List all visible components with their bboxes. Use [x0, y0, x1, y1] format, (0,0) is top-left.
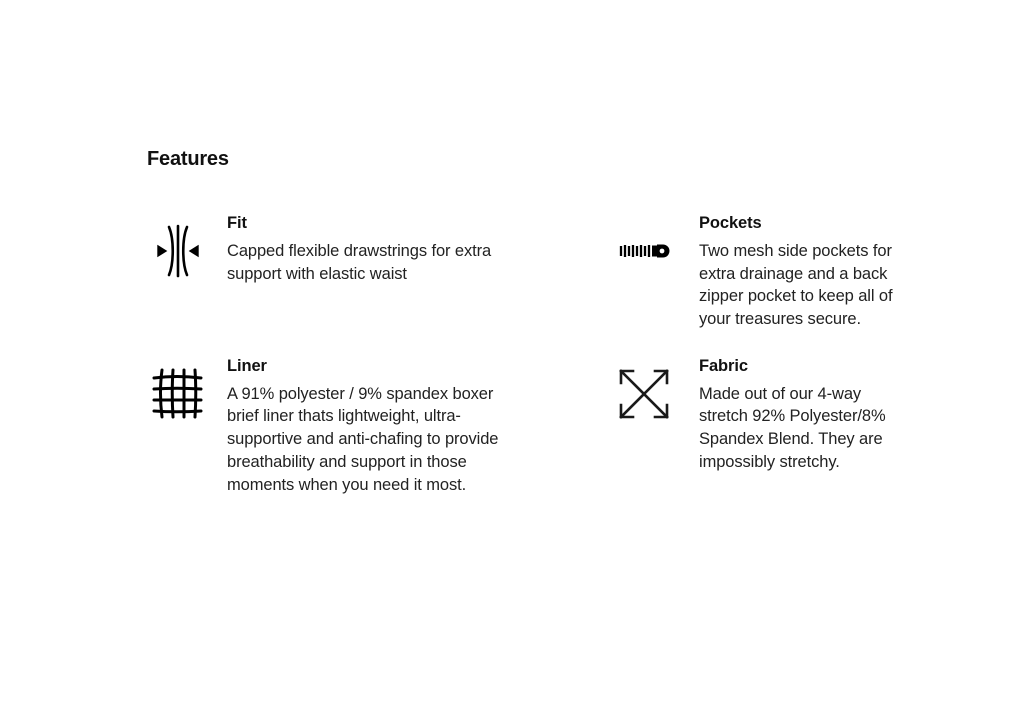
page-title: Features [147, 148, 907, 170]
feature-body-fabric: Fabric Made out of our 4-way stretch 92%… [699, 357, 907, 474]
feature-item-pockets: Pockets Two mesh side pockets for extra … [613, 214, 907, 331]
feature-title-fabric: Fabric [699, 357, 907, 377]
feature-text-pockets: Two mesh side pockets for extra drainage… [699, 240, 907, 331]
feature-body-pockets: Pockets Two mesh side pockets for extra … [699, 214, 907, 331]
features-grid: Fit Capped flexible drawstrings for extr… [147, 214, 907, 496]
feature-title-fit: Fit [227, 214, 503, 234]
feature-item-fabric: Fabric Made out of our 4-way stretch 92%… [613, 357, 907, 497]
feature-item-fit: Fit Capped flexible drawstrings for extr… [147, 214, 613, 331]
feature-body-liner: Liner A 91% polyester / 9% spandex boxer… [227, 357, 503, 497]
drawstring-icon [147, 220, 209, 282]
mesh-grid-icon [147, 363, 209, 425]
feature-body-fit: Fit Capped flexible drawstrings for extr… [227, 214, 503, 285]
feature-text-fit: Capped flexible drawstrings for extra su… [227, 240, 503, 286]
zipper-icon [613, 220, 675, 282]
feature-item-liner: Liner A 91% polyester / 9% spandex boxer… [147, 357, 613, 497]
features-section: Features Fit Capped flexible drawstrings… [147, 148, 907, 496]
feature-title-liner: Liner [227, 357, 503, 377]
four-way-stretch-arrows-icon [613, 363, 675, 425]
feature-title-pockets: Pockets [699, 214, 907, 234]
feature-text-fabric: Made out of our 4-way stretch 92% Polyes… [699, 383, 907, 474]
feature-text-liner: A 91% polyester / 9% spandex boxer brief… [227, 383, 503, 497]
